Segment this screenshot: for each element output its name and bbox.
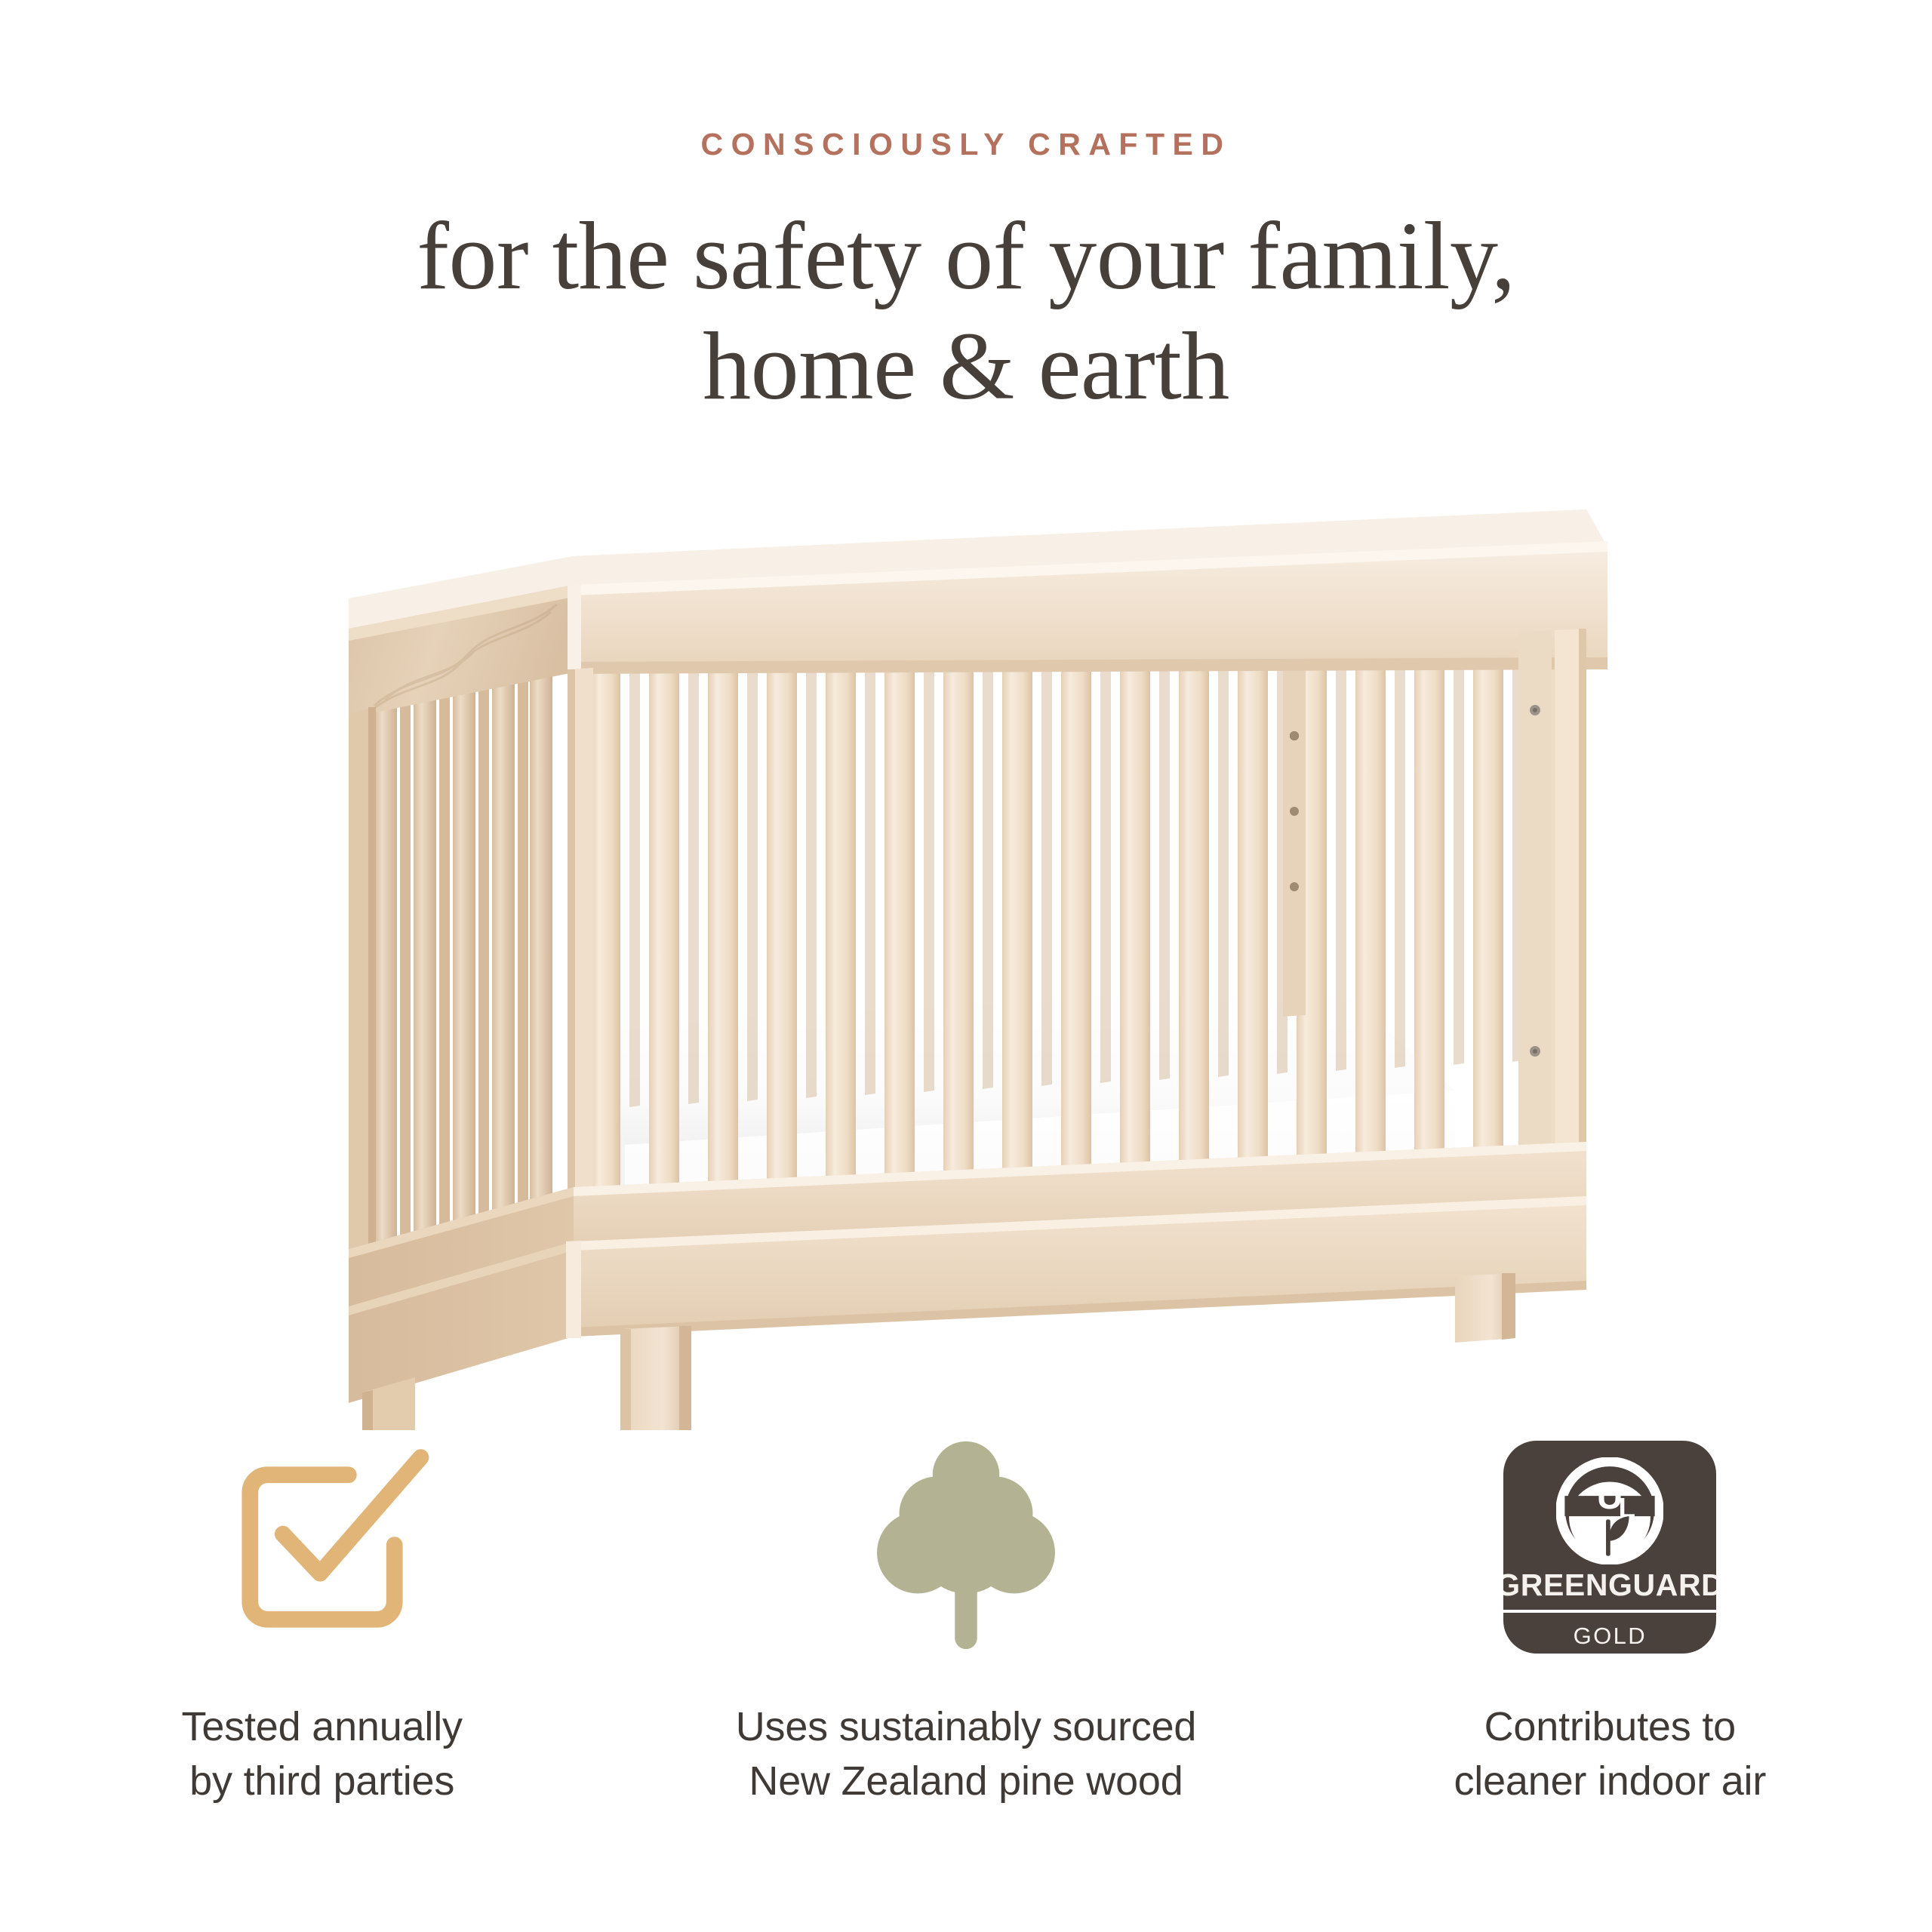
feature-caption-line-2: by third parties xyxy=(182,1754,463,1808)
feature-caption: Contributes to cleaner indoor air xyxy=(1454,1700,1767,1809)
feature-row: Tested annually by third parties Uses su… xyxy=(0,1434,1932,1857)
crib-illustration xyxy=(325,487,1630,1430)
feature-sustainable-pine: Uses sustainably sourced New Zealand pin… xyxy=(644,1434,1287,1857)
greenguard-badge-wrap: U L GREENGUARD GOLD xyxy=(1503,1434,1716,1660)
headline-line-2: home & earth xyxy=(0,312,1932,422)
check-square-icon xyxy=(213,1438,432,1657)
eyebrow-text: CONSCIOUSLY CRAFTED xyxy=(0,127,1932,162)
greenguard-gold-badge-icon: U L GREENGUARD GOLD xyxy=(1503,1441,1716,1654)
mattress-height-post xyxy=(1283,641,1306,1017)
product-image-crib xyxy=(325,487,1630,1430)
greenguard-tier-label: GOLD xyxy=(1574,1623,1647,1650)
check-square-icon-wrap xyxy=(213,1434,432,1660)
feature-caption-line-1: Contributes to xyxy=(1454,1700,1767,1754)
tree-icon xyxy=(872,1438,1060,1657)
feature-caption: Tested annually by third parties xyxy=(182,1700,463,1809)
feature-caption: Uses sustainably sourced New Zealand pin… xyxy=(736,1700,1197,1809)
greenguard-wordmark: GREENGUARD xyxy=(1503,1567,1716,1603)
crib-front-slats xyxy=(590,630,1562,1195)
tree-icon-wrap xyxy=(872,1434,1060,1660)
header: CONSCIOUSLY CRAFTED for the safety of yo… xyxy=(0,0,1932,422)
feature-caption-line-2: cleaner indoor air xyxy=(1454,1754,1767,1808)
badge-divider xyxy=(1503,1610,1716,1613)
feature-caption-line-2: New Zealand pine wood xyxy=(736,1754,1197,1808)
page-title: for the safety of your family, home & ea… xyxy=(0,202,1932,422)
feature-tested-annually: Tested annually by third parties xyxy=(0,1434,644,1857)
feature-caption-line-1: Uses sustainably sourced xyxy=(736,1700,1197,1754)
ul-certification-mark-icon: U L xyxy=(1556,1457,1663,1564)
feature-caption-line-1: Tested annually xyxy=(182,1700,463,1754)
feature-greenguard-gold: U L GREENGUARD GOLD Contributes to clean… xyxy=(1288,1434,1932,1857)
headline-line-1: for the safety of your family, xyxy=(0,202,1932,312)
